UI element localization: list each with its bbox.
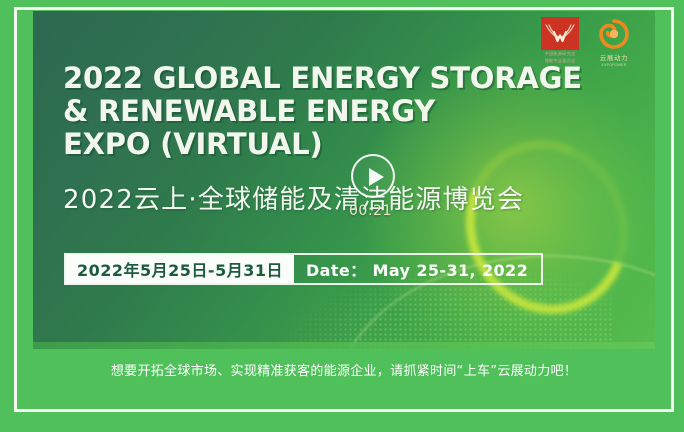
video-duration-label: 00:21 (349, 203, 392, 219)
logo-swirl: 云展动力 EXPOPOWER (595, 17, 633, 67)
wing-logo-caption-line2: 储能专业委员会 (545, 58, 576, 64)
poster-headline: 2022 GLOBAL ENERGY STORAGE & RENEWABLE E… (63, 62, 582, 160)
poster-bottom-band (33, 342, 655, 349)
headline-line-3: EXPO (VIRTUAL) (63, 128, 582, 161)
headline-line-1: 2022 GLOBAL ENERGY STORAGE (63, 62, 582, 95)
logo-wing-w: 中国能源研究会 储能专业委员会 (541, 17, 579, 64)
promo-caption: 想要开拓全球市场、实现精准获客的能源企业，请抓紧时间“上车”云展动力吧！ (33, 360, 655, 379)
play-triangle-icon (369, 168, 384, 186)
date-banner: 2022年5月25日-5月31日 Date： May 25-31, 2022 (64, 253, 543, 285)
swirl-logo-name-cn: 云展动力 (600, 52, 628, 62)
headline-line-2: & RENEWABLE ENERGY (63, 95, 582, 128)
wing-w-icon (541, 17, 579, 50)
page-root: 中国能源研究会 储能专业委员会 云展动力 EXPOPOWER 2022 GLOB… (0, 0, 684, 432)
date-chinese: 2022年5月25日-5月31日 (66, 255, 294, 283)
poster-subtitle: 2022云上·全球储能及清洁能源博览会 (63, 179, 524, 216)
play-button[interactable] (351, 154, 395, 198)
swirl-icon (595, 17, 633, 50)
logo-row: 中国能源研究会 储能专业委员会 云展动力 EXPOPOWER (541, 17, 633, 67)
date-english: Date： May 25-31, 2022 (294, 255, 541, 283)
swirl-logo-name-en: EXPOPOWER (602, 63, 627, 67)
video-player[interactable]: 中国能源研究会 储能专业委员会 云展动力 EXPOPOWER 2022 GLOB… (33, 11, 655, 349)
wing-logo-caption-line1: 中国能源研究会 (545, 51, 576, 57)
